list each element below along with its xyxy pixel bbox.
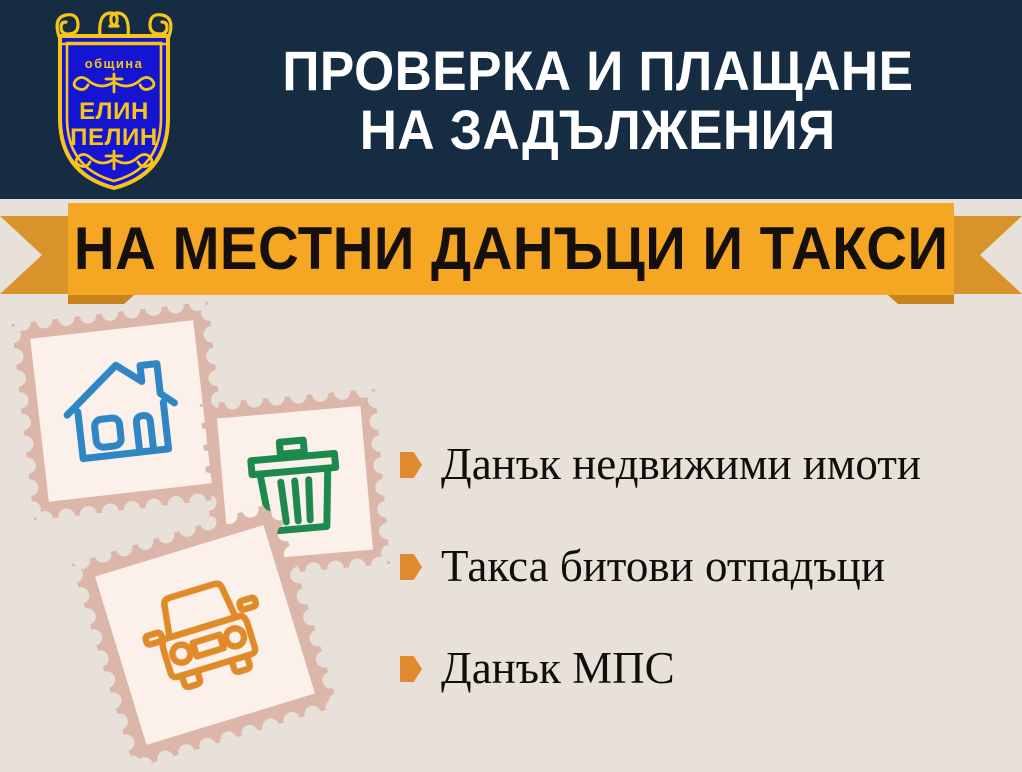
page-title: ПРОВЕРКА И ПЛАЩАНЕ НА ЗАДЪЛЖЕНИЯ (186, 18, 1010, 183)
list-item-label: Данък МПС (441, 645, 675, 692)
page-title-line-2: НА ЗАДЪЛЖЕНИЯ (360, 101, 836, 159)
car-front-icon (129, 567, 282, 704)
ribbon-banner: НА МЕСТНИ ДАНЪЦИ И ТАКСИ (68, 203, 954, 295)
list-item-label: Такса битови отпадъци (441, 543, 885, 590)
municipality-crest-icon: община ЕЛИН ПЕЛИН (38, 6, 190, 194)
list-item[interactable]: Данък МПС (400, 618, 1010, 720)
svg-text:ПЕЛИН: ПЕЛИН (70, 124, 158, 151)
svg-text:ЕЛИН: ЕЛИН (79, 98, 149, 125)
svg-text:община: община (85, 56, 143, 71)
ribbon-label: НА МЕСТНИ ДАНЪЦИ И ТАКСИ (74, 219, 949, 279)
poster-canvas: община ЕЛИН ПЕЛИН (0, 0, 1022, 772)
house-icon (55, 349, 187, 474)
stamp-paper (30, 320, 212, 502)
tax-type-list: Данък недвижими имоти Такса битови отпад… (400, 414, 1010, 720)
stamp-paper (95, 525, 315, 745)
poster-header: община ЕЛИН ПЕЛИН (0, 0, 1022, 199)
page-title-line-1: ПРОВЕРКА И ПЛАЩАНЕ (283, 42, 914, 100)
list-item[interactable]: Такса битови отпадъци (400, 516, 1010, 618)
arrow-bullet-icon (400, 554, 422, 580)
list-item[interactable]: Данък недвижими имоти (400, 414, 1010, 516)
arrow-bullet-icon (400, 452, 422, 478)
list-item-label: Данък недвижими имоти (441, 441, 921, 488)
arrow-bullet-icon (400, 656, 422, 682)
subtitle-ribbon: НА МЕСТНИ ДАНЪЦИ И ТАКСИ (0, 199, 1022, 311)
stamp-card-property (11, 301, 230, 520)
stamp-card-group (0, 300, 420, 772)
